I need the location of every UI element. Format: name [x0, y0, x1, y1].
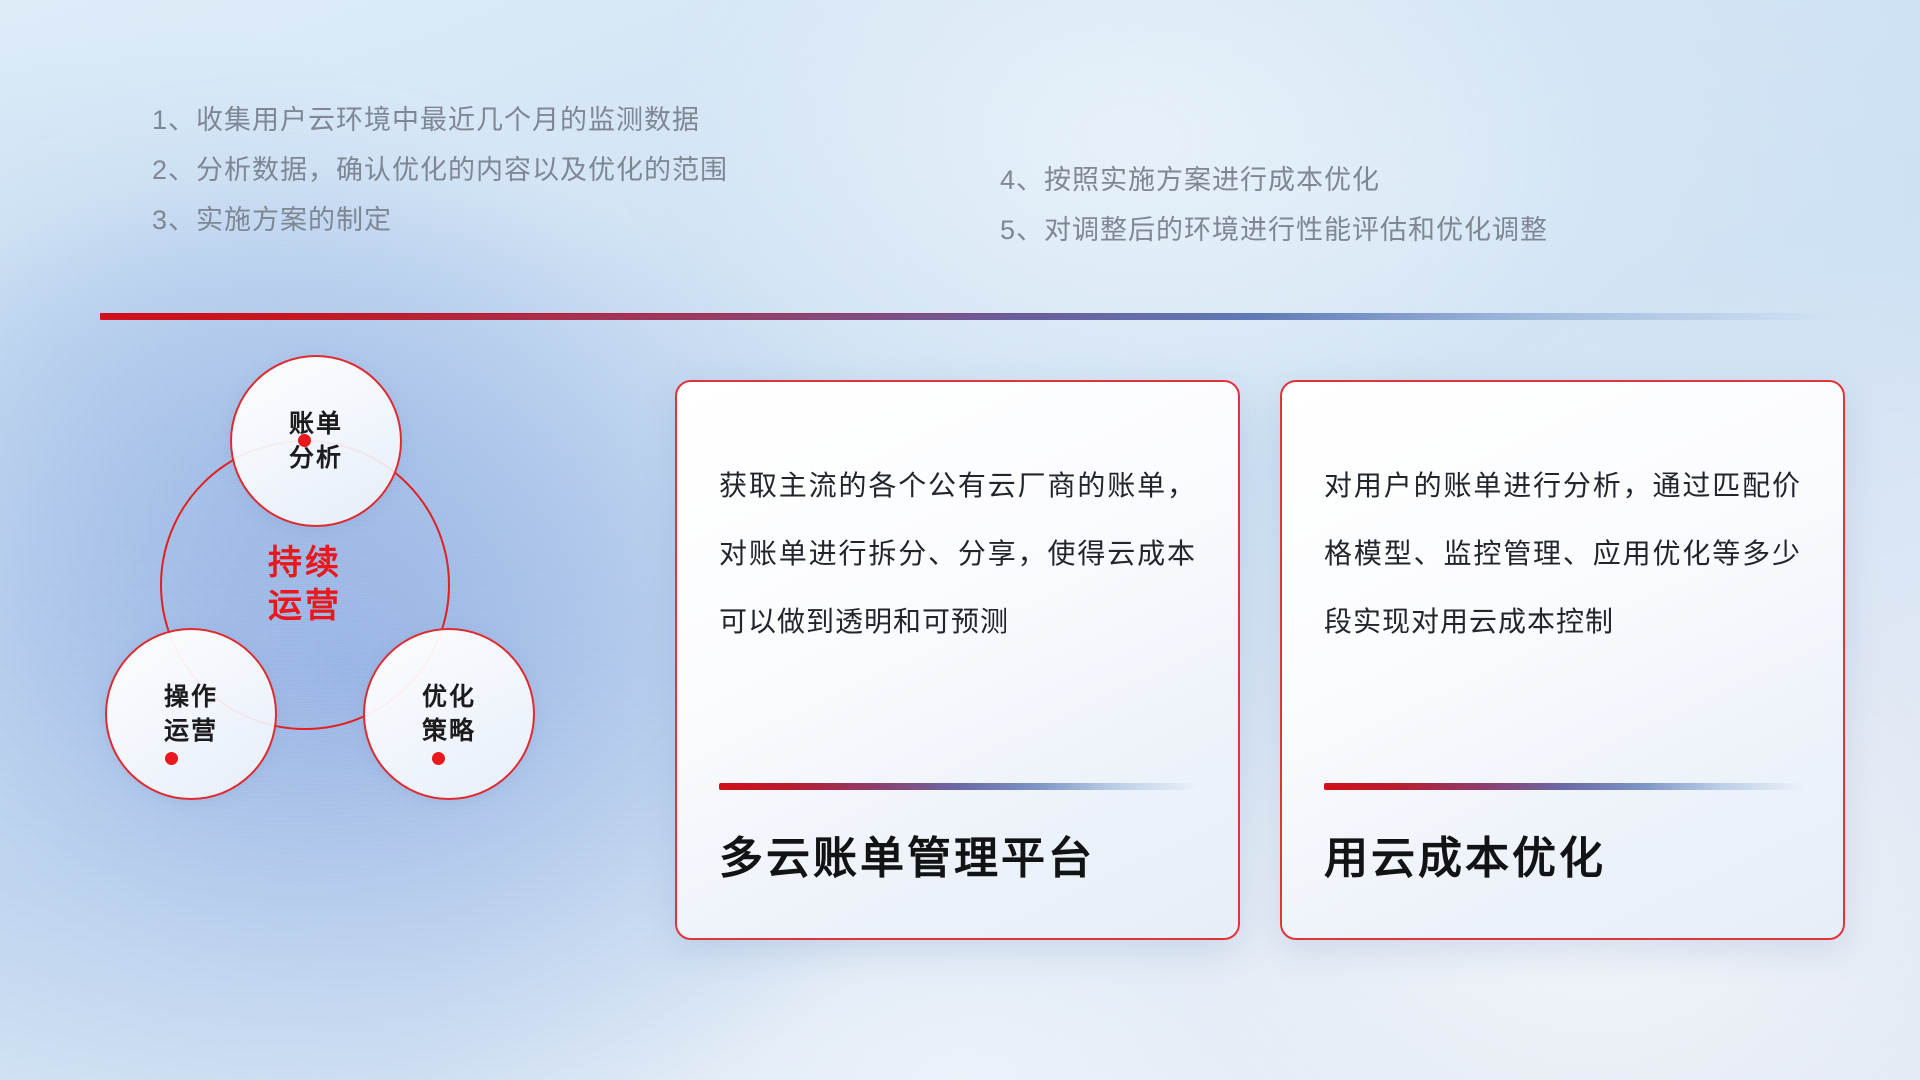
step-item-3: 3、实施方案的制定 — [152, 195, 728, 245]
venn-node-optimization-strategy[interactable]: 优化 策略 — [363, 628, 535, 800]
venn-top-line2: 分析 — [289, 444, 343, 472]
feature-card-1-title: 多云账单管理平台 — [719, 822, 1095, 886]
feature-card-cost-optimization[interactable]: 对用户的账单进行分析，通过匹配价格模型、监控管理、应用优化等多少段实现对用云成本… — [1280, 380, 1845, 940]
steps-list-left: 1、收集用户云环境中最近几个月的监测数据 2、分析数据，确认优化的内容以及优化的… — [152, 95, 728, 245]
venn-right-line1: 优化 — [422, 683, 476, 711]
feature-card-2-rule — [1324, 783, 1804, 790]
step-item-5: 5、对调整后的环境进行性能评估和优化调整 — [1000, 205, 1548, 255]
venn-diagram: 持续 运营 账单 分析 操作 运营 优化 策略 — [95, 360, 625, 920]
venn-connector-dot-left — [165, 752, 178, 765]
venn-connector-dot-top — [298, 434, 311, 447]
venn-left-line1: 操作 — [164, 683, 218, 711]
venn-node-optimization-strategy-label: 优化 策略 — [422, 680, 476, 748]
venn-node-operations[interactable]: 操作 运营 — [105, 628, 277, 800]
feature-card-1-body: 获取主流的各个公有云厂商的账单，对账单进行拆分、分享，使得云成本可以做到透明和可… — [719, 452, 1196, 656]
steps-list-right: 4、按照实施方案进行成本优化 5、对调整后的环境进行性能评估和优化调整 — [1000, 155, 1548, 255]
step-item-4: 4、按照实施方案进行成本优化 — [1000, 155, 1548, 205]
step-item-2: 2、分析数据，确认优化的内容以及优化的范围 — [152, 145, 728, 195]
venn-node-operations-label: 操作 运营 — [164, 680, 218, 748]
feature-card-2-title: 用云成本优化 — [1324, 822, 1606, 886]
venn-right-line2: 策略 — [422, 717, 476, 745]
venn-connector-dot-right — [432, 752, 445, 765]
venn-center-line1: 持续 — [268, 544, 342, 582]
feature-card-2-body: 对用户的账单进行分析，通过匹配价格模型、监控管理、应用优化等多少段实现对用云成本… — [1324, 452, 1801, 656]
venn-top-line1: 账单 — [289, 410, 343, 438]
venn-left-line2: 运营 — [164, 717, 218, 745]
venn-node-bill-analysis[interactable]: 账单 分析 — [230, 355, 402, 527]
feature-card-multicloud-billing[interactable]: 获取主流的各个公有云厂商的账单，对账单进行拆分、分享，使得云成本可以做到透明和可… — [675, 380, 1240, 940]
step-item-1: 1、收集用户云环境中最近几个月的监测数据 — [152, 95, 728, 145]
section-divider — [100, 313, 1840, 320]
venn-center-line2: 运营 — [268, 587, 342, 625]
feature-card-1-rule — [719, 783, 1199, 790]
